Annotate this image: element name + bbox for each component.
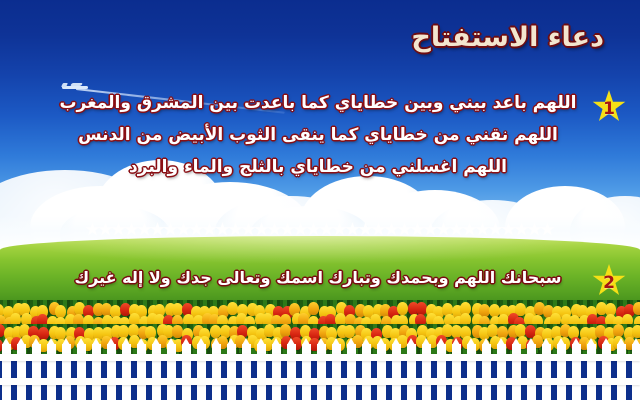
fence-picket — [347, 344, 356, 400]
fence-picket — [572, 344, 581, 400]
fence-picket — [197, 344, 206, 400]
fence-picket — [377, 344, 386, 400]
dua-line-3: اللهم اغسلني من خطاياي بالثلج والماء وال… — [28, 157, 608, 177]
star-icon — [85, 222, 100, 237]
star-icon — [345, 222, 360, 237]
star-icon — [254, 222, 269, 237]
star-icon — [124, 222, 139, 237]
star-icon — [475, 222, 490, 237]
fence-rail — [0, 378, 640, 385]
fence-picket — [512, 344, 521, 400]
fence-picket — [32, 344, 41, 400]
star-icon — [384, 222, 399, 237]
picket-fence — [0, 344, 640, 400]
star-icon — [540, 222, 555, 237]
star-icon — [319, 222, 334, 237]
star-icon — [163, 222, 178, 237]
fence-picket — [182, 344, 191, 400]
fence-picket — [332, 344, 341, 400]
star-icon — [306, 222, 321, 237]
star-icon — [98, 222, 113, 237]
fence-picket — [137, 344, 146, 400]
fence-picket — [77, 344, 86, 400]
fence-picket — [122, 344, 131, 400]
fence-picket — [92, 344, 101, 400]
fence-picket — [542, 344, 551, 400]
fence-picket — [107, 344, 116, 400]
fence-picket — [602, 344, 611, 400]
fence-picket — [242, 344, 251, 400]
star-badge-number: 1 — [592, 90, 626, 124]
fence-picket — [212, 344, 221, 400]
star-icon — [397, 222, 412, 237]
fence-picket — [17, 344, 26, 400]
star-icon — [423, 222, 438, 237]
fence-picket — [47, 344, 56, 400]
star-icon — [514, 222, 529, 237]
star-icon — [202, 222, 217, 237]
fence-picket — [317, 344, 326, 400]
star-badge-2: 2 — [592, 264, 626, 298]
tulip-flower — [633, 302, 640, 315]
star-icon — [371, 222, 386, 237]
fence-picket — [617, 344, 626, 400]
star-icon — [527, 222, 542, 237]
star-icon — [189, 222, 204, 237]
star-divider — [0, 222, 640, 237]
dua-line-4: سبحانك اللهم وبحمدك وتبارك اسمك وتعالى ج… — [28, 268, 608, 287]
page-title: دعاء الاستفتاح — [411, 22, 604, 53]
fence-picket — [452, 344, 461, 400]
fence-picket — [587, 344, 596, 400]
dua-line-1: اللهم باعد بيني وبين خطاياي كما باعدت بي… — [28, 93, 608, 113]
fence-picket — [392, 344, 401, 400]
star-icon — [488, 222, 503, 237]
star-icon — [137, 222, 152, 237]
star-icon — [228, 222, 243, 237]
fence-picket — [257, 344, 266, 400]
star-icon — [215, 222, 230, 237]
fence-picket — [167, 344, 176, 400]
fence-picket — [632, 344, 640, 400]
fence-picket — [152, 344, 161, 400]
fence-picket — [407, 344, 416, 400]
fence-picket — [287, 344, 296, 400]
star-icon — [267, 222, 282, 237]
star-badge-1: 1 — [592, 90, 626, 124]
star-icon — [176, 222, 191, 237]
fence-picket — [437, 344, 446, 400]
star-badge-number: 2 — [592, 264, 626, 298]
fence-picket — [362, 344, 371, 400]
star-icon — [501, 222, 516, 237]
star-icon — [111, 222, 126, 237]
star-icon — [462, 222, 477, 237]
tulip-flower — [397, 302, 408, 315]
star-icon — [150, 222, 165, 237]
star-icon — [293, 222, 308, 237]
fence-picket — [482, 344, 491, 400]
fence-picket — [497, 344, 506, 400]
star-icon — [280, 222, 295, 237]
fence-picket — [527, 344, 536, 400]
fence-picket — [227, 344, 236, 400]
tulip-flower — [632, 325, 640, 338]
poster-canvas: دعاء الاستفتاح اللهم باعد بيني وبين خطاي… — [0, 0, 640, 400]
star-icon — [358, 222, 373, 237]
dua-line-2: اللهم نقني من خطاياي كما ينقى الثوب الأب… — [28, 125, 608, 145]
fence-picket — [272, 344, 281, 400]
fence-picket — [467, 344, 476, 400]
fence-picket — [2, 344, 11, 400]
fence-picket — [422, 344, 431, 400]
fence-picket — [62, 344, 71, 400]
fence-picket — [557, 344, 566, 400]
star-icon — [332, 222, 347, 237]
star-icon — [436, 222, 451, 237]
tulip-flower — [308, 302, 319, 315]
star-icon — [449, 222, 464, 237]
star-icon — [410, 222, 425, 237]
fence-picket — [302, 344, 311, 400]
airplane-icon — [62, 83, 88, 92]
fence-rail — [0, 354, 640, 361]
star-icon — [241, 222, 256, 237]
